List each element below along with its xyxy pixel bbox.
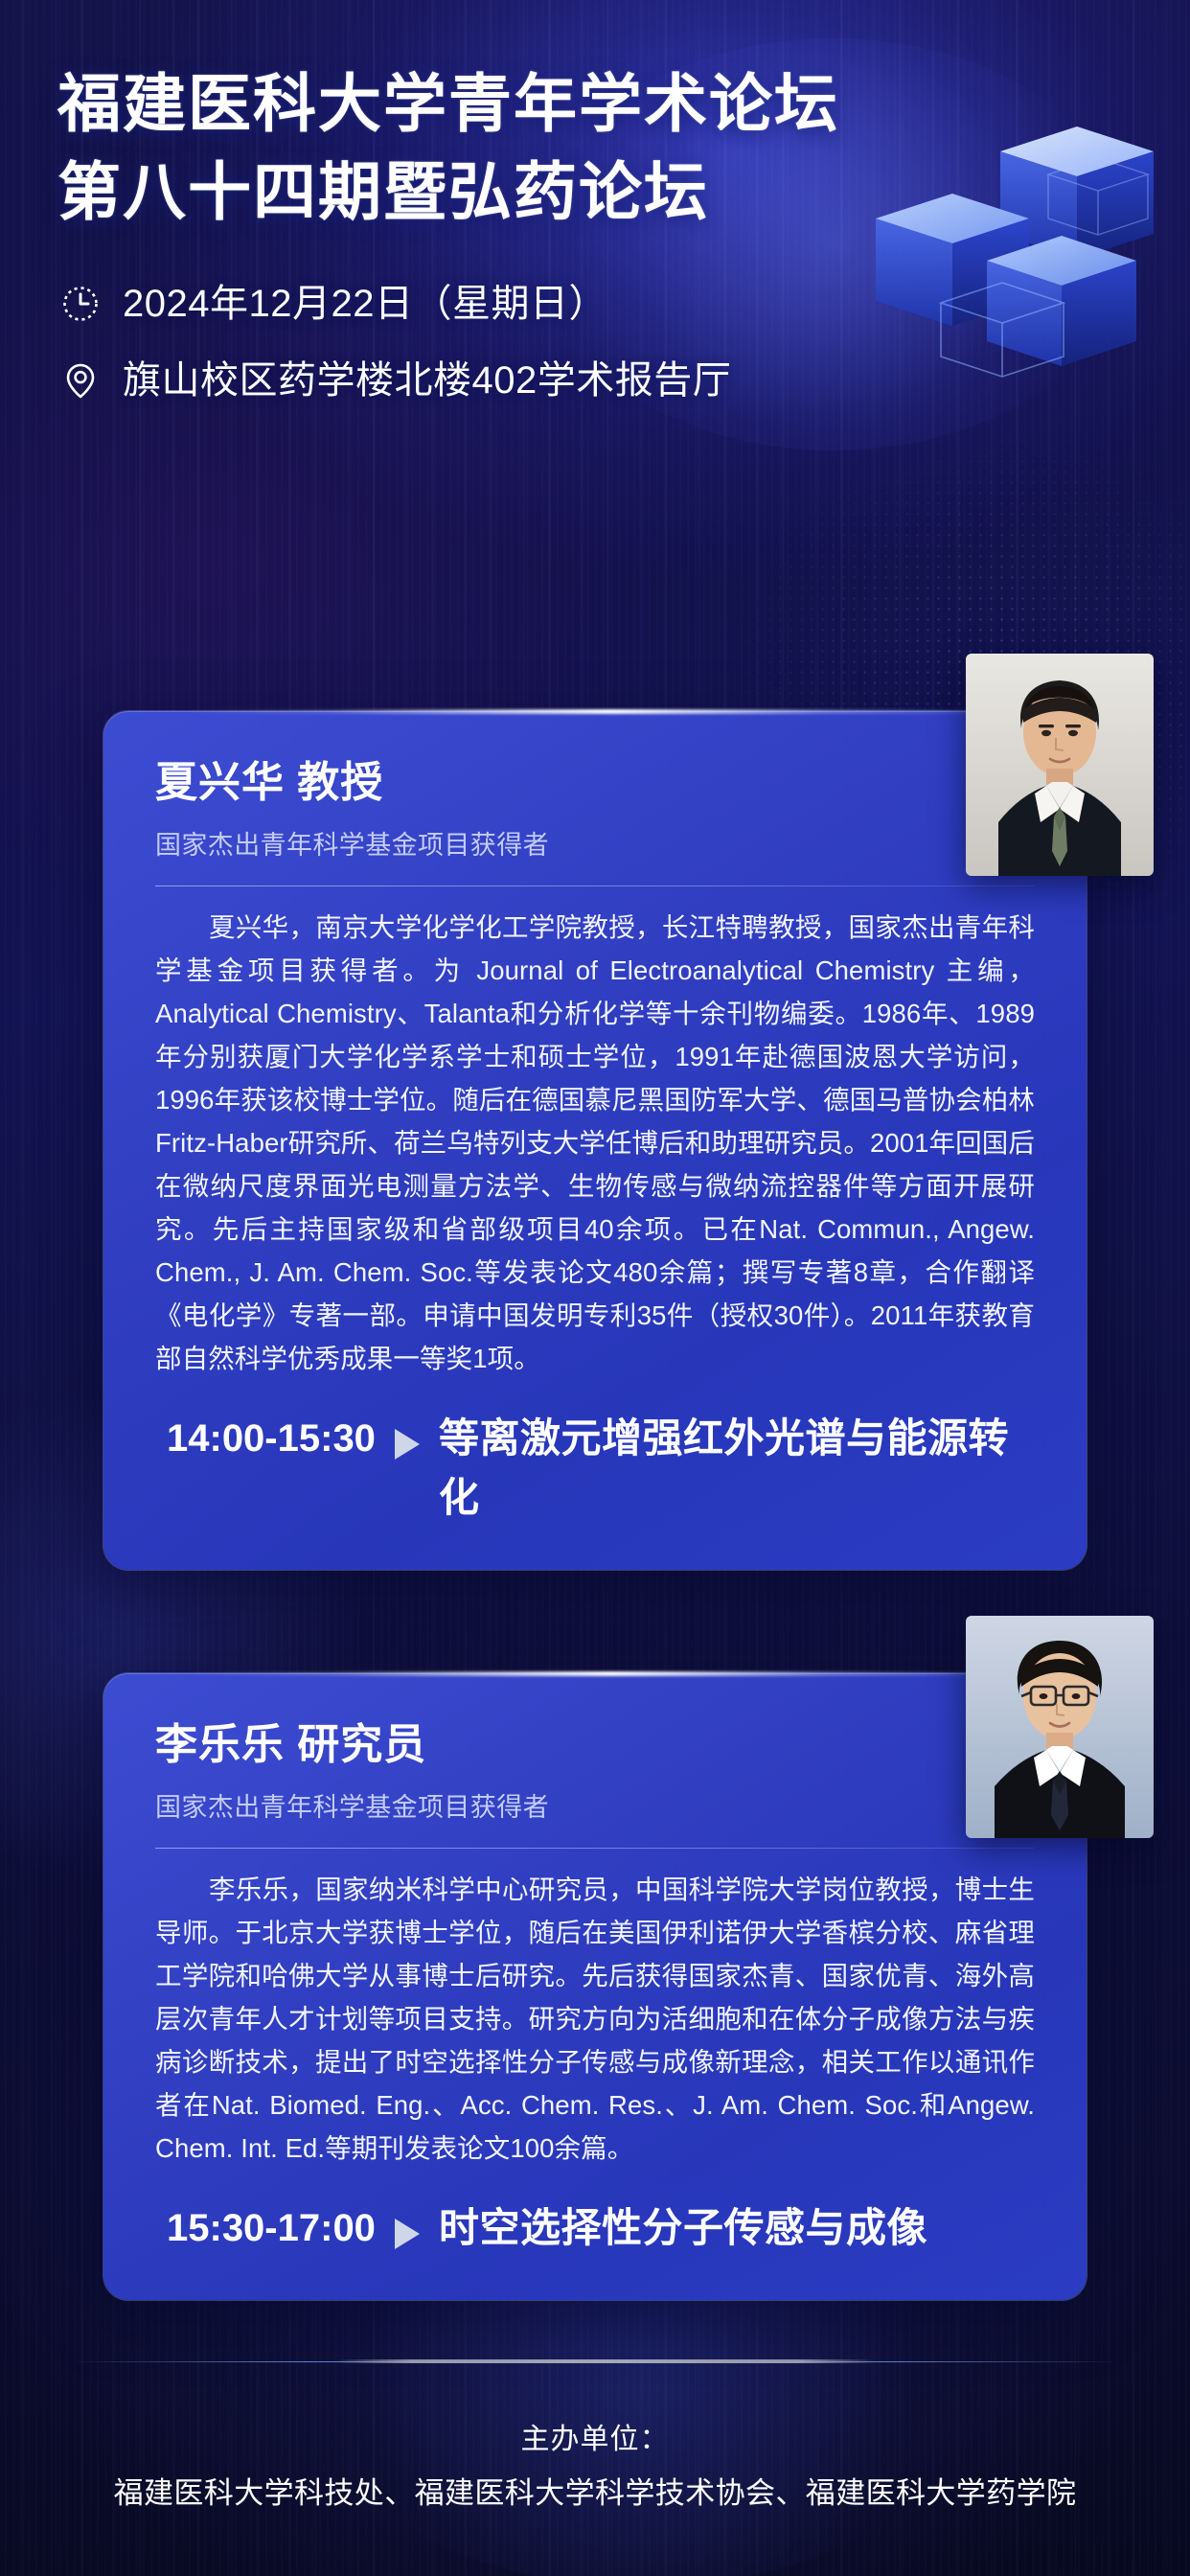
speaker-name: 李乐乐 研究员 <box>155 1717 1035 1773</box>
card-divider <box>155 885 1035 886</box>
poster-root: 福建医科大学青年学术论坛 第八十四期暨弘药论坛 2024年12月22日（星期日）… <box>0 0 1190 2576</box>
talk-title: 时空选择性分子传感与成像 <box>439 2198 927 2258</box>
poster-footer: 主办单位： 福建医科大学科技处、福建医科大学科学技术协会、福建医科大学药学院 <box>0 2359 1190 2518</box>
page-title: 福建医科大学青年学术论坛 第八十四期暨弘药论坛 <box>0 59 1190 236</box>
event-location-text: 旗山校区药学楼北楼402学术报告厅 <box>123 356 731 404</box>
title-line-2: 第八十四期暨弘药论坛 <box>57 148 1190 236</box>
speaker-honor: 国家杰出青年科学基金项目获得者 <box>155 826 1035 864</box>
talk-time: 15:30-17:00 <box>155 2198 376 2258</box>
event-location-row: 旗山校区药学楼北楼402学术报告厅 <box>0 356 1190 404</box>
play-triangle-icon <box>395 1429 420 1460</box>
speaker-portrait-li-lele <box>966 1616 1154 1838</box>
play-triangle-icon <box>395 2219 420 2249</box>
organizer-label: 主办单位： <box>0 2417 1190 2463</box>
talk-row: 15:30-17:00 时空选择性分子传感与成像 <box>155 2198 1035 2258</box>
event-date-row: 2024年12月22日（星期日） <box>0 280 1190 328</box>
poster-header: 福建医科大学青年学术论坛 第八十四期暨弘药论坛 2024年12月22日（星期日）… <box>0 0 1190 404</box>
event-date-text: 2024年12月22日（星期日） <box>123 280 607 328</box>
clock-icon <box>59 283 102 325</box>
speaker-card-1[interactable]: 夏兴华 教授 国家杰出青年科学基金项目获得者 夏兴华，南京大学化学化工学院教授，… <box>103 711 1087 1570</box>
footer-divider-thick <box>336 2359 875 2363</box>
card-divider <box>155 1848 1035 1849</box>
footer-divider <box>78 2359 1112 2363</box>
speaker-portrait-xia-xinghua <box>966 654 1154 876</box>
talk-title: 等离激元增强红外光谱与能源转化 <box>439 1409 1035 1528</box>
speaker-name: 夏兴华 教授 <box>155 755 1035 811</box>
speaker-bio: 李乐乐，国家纳米科学中心研究员，中国科学院大学岗位教授，博士生导师。于北京大学获… <box>155 1868 1035 2170</box>
title-line-1: 福建医科大学青年学术论坛 <box>57 59 1190 148</box>
speaker-honor: 国家杰出青年科学基金项目获得者 <box>155 1788 1035 1827</box>
speaker-card-2[interactable]: 李乐乐 研究员 国家杰出青年科学基金项目获得者 李乐乐，国家纳米科学中心研究员，… <box>103 1673 1087 2300</box>
location-pin-icon <box>59 359 102 402</box>
talk-row: 14:00-15:30 等离激元增强红外光谱与能源转化 <box>155 1409 1035 1528</box>
organizer-list: 福建医科大学科技处、福建医科大学科学技术协会、福建医科大学药学院 <box>0 2469 1190 2518</box>
talk-time: 14:00-15:30 <box>155 1409 376 1468</box>
speaker-bio: 夏兴华，南京大学化学化工学院教授，长江特聘教授，国家杰出青年科学基金项目获得者。… <box>155 906 1035 1380</box>
